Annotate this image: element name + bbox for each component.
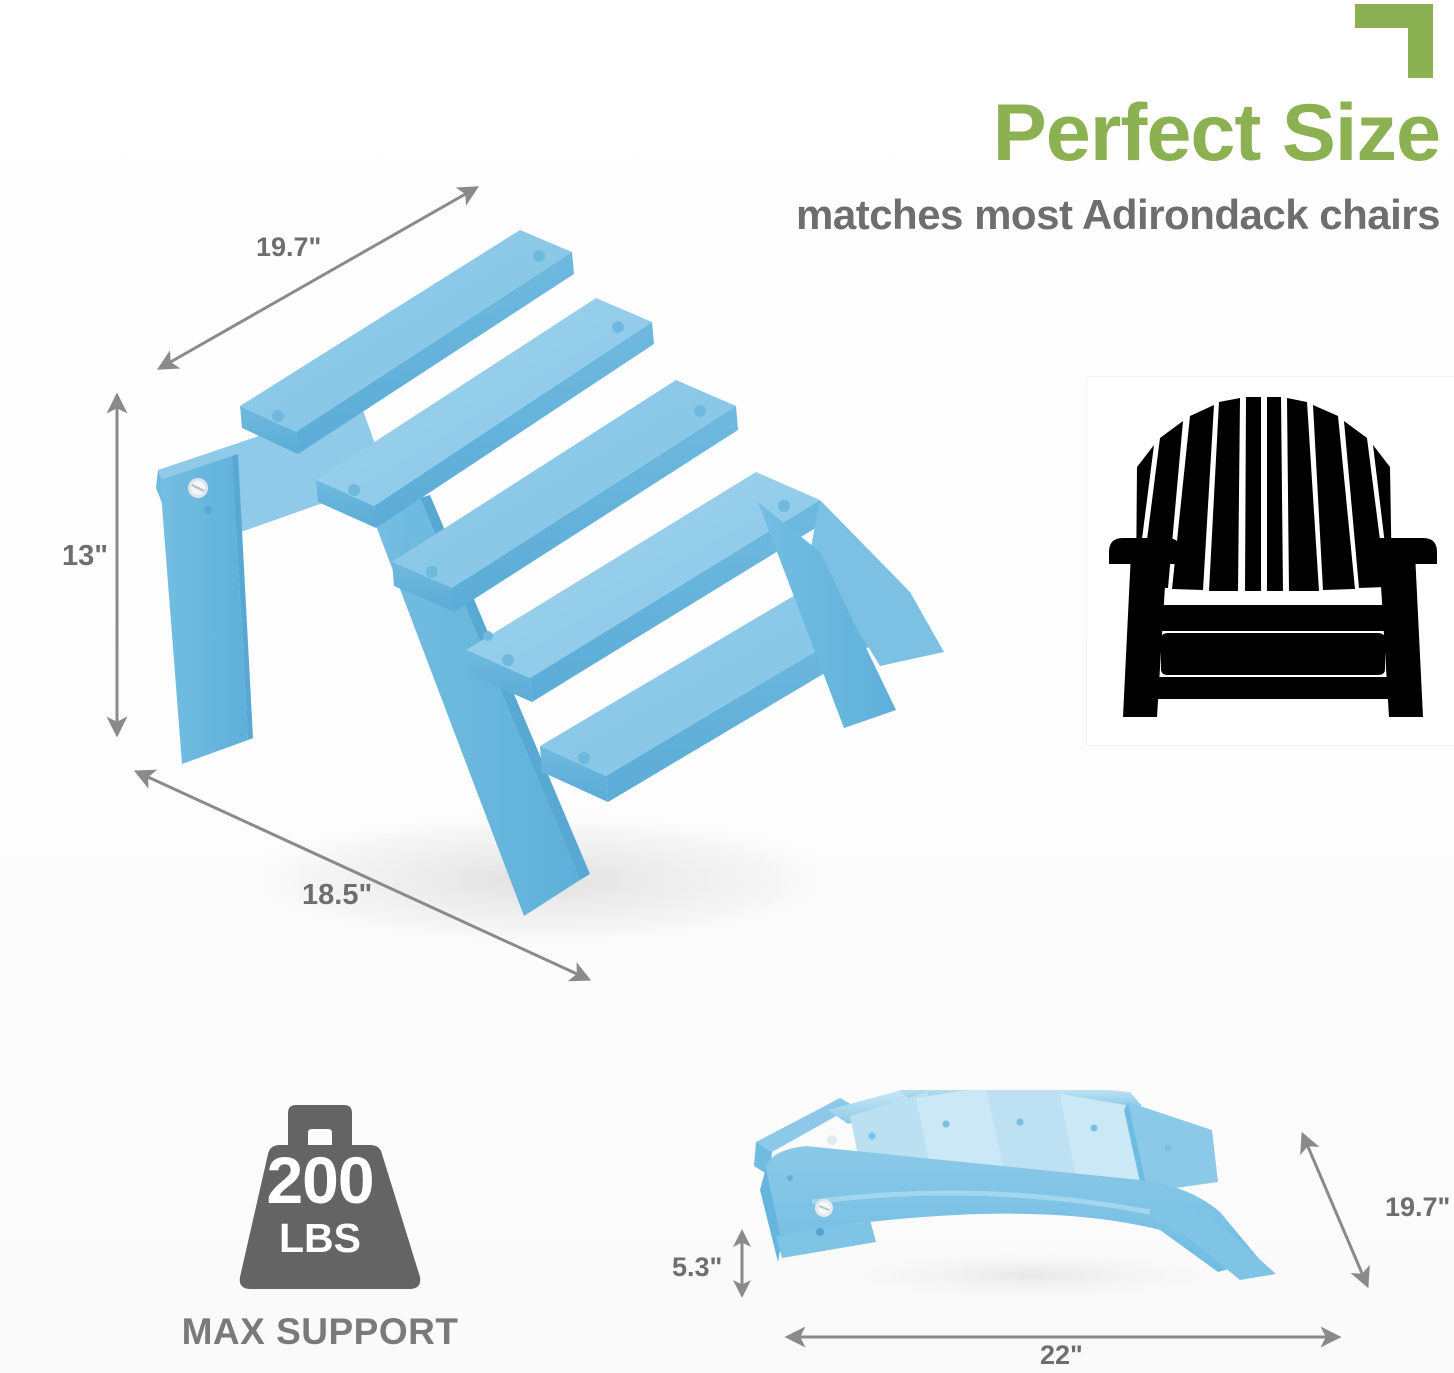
- corner-accent-mark: [1355, 4, 1433, 78]
- corner-accent-bar-vertical: [1408, 4, 1433, 78]
- dimension-label-width-folded: 22": [1040, 1340, 1083, 1371]
- page-title: Perfect Size: [720, 94, 1440, 173]
- dimension-label-height-main: 13": [62, 540, 108, 573]
- dimension-label-width-main: 19.7": [256, 232, 321, 263]
- weight-value: 200: [210, 1147, 430, 1213]
- weight-unit: LBS: [210, 1218, 430, 1259]
- max-support-badge: 200 LBS MAX SUPPORT: [130, 1105, 510, 1365]
- max-support-label: MAX SUPPORT: [130, 1311, 510, 1353]
- infographic-canvas: Perfect Size matches most Adirondack cha…: [0, 0, 1454, 1373]
- main-product-image: [120, 180, 950, 990]
- dimension-label-depth-main: 18.5": [302, 879, 372, 912]
- dimension-label-height-folded: 5.3": [672, 1252, 722, 1283]
- folded-product-image: [720, 1090, 1340, 1320]
- chair-reference-card: [1086, 376, 1454, 746]
- adirondack-chair-icon: [1095, 383, 1451, 739]
- dimension-label-depth-folded: 19.7": [1385, 1192, 1450, 1223]
